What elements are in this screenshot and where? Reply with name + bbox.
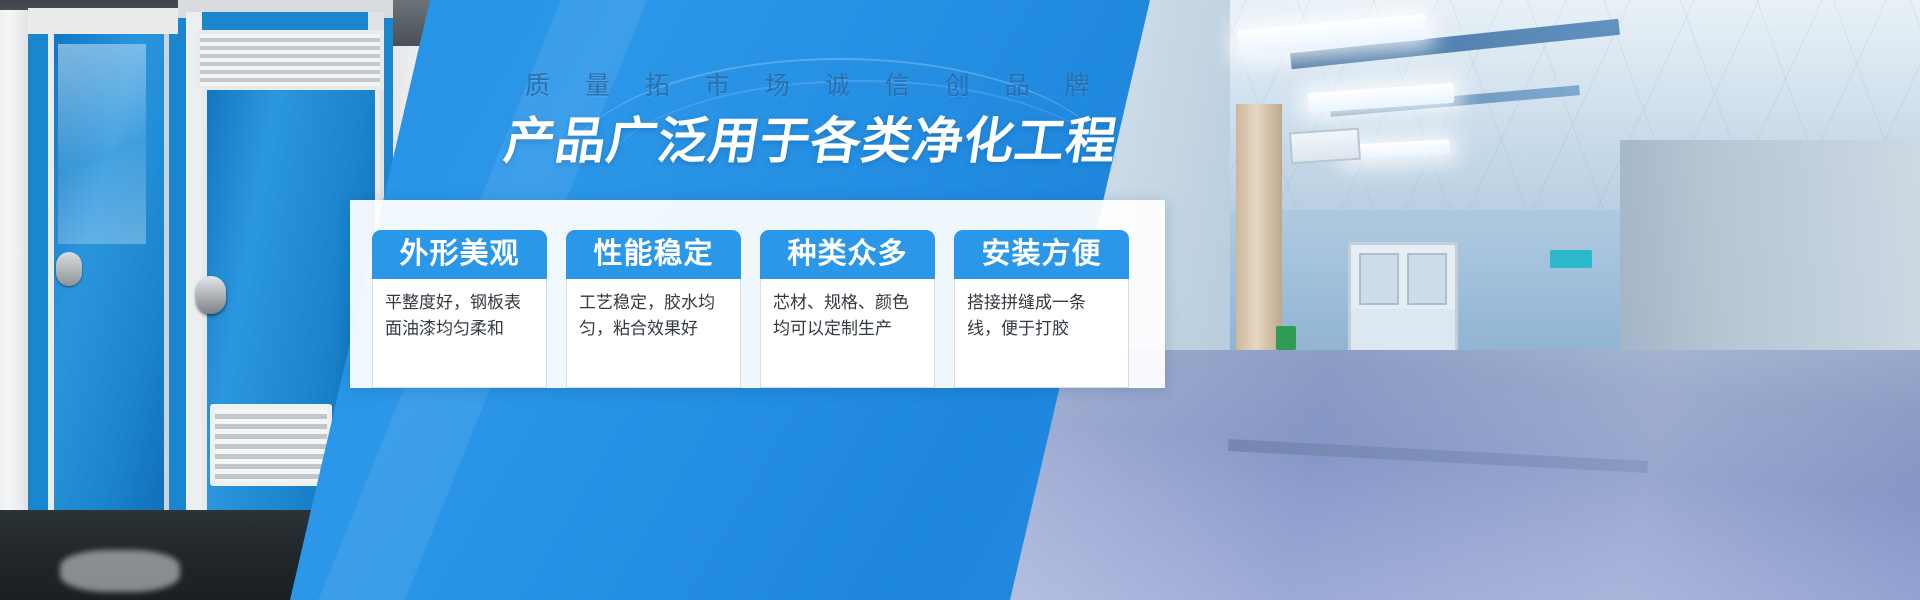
banner-subtitle: 质 量 拓 市 场 诚 信 创 品 牌 — [525, 74, 1085, 99]
feature-card-1-title: 外形美观 — [372, 230, 547, 279]
promo-banner: 质 量 拓 市 场 诚 信 创 品 牌 产品广泛用于各类净化工程 外形美观 平整… — [0, 0, 1920, 600]
feature-cards-row: 外形美观 平整度好，钢板表面油漆均匀柔和 性能稳定 工艺稳定，胶水均匀，粘合效果… — [350, 200, 1165, 388]
feature-card-2-title: 性能稳定 — [566, 230, 741, 279]
feature-card-3-title: 种类众多 — [760, 230, 935, 279]
banner-headline: 产品广泛用于各类净化工程 — [501, 114, 1230, 169]
feature-card-2-body: 工艺稳定，胶水均匀，粘合效果好 — [566, 279, 741, 388]
feature-card-2[interactable]: 性能稳定 工艺稳定，胶水均匀，粘合效果好 — [566, 230, 741, 388]
feature-card-4-body: 搭接拼缝成一条线，便于打胶 — [954, 279, 1129, 388]
feature-card-4-title: 安装方便 — [954, 230, 1129, 279]
feature-card-1[interactable]: 外形美观 平整度好，钢板表面油漆均匀柔和 — [372, 230, 547, 388]
feature-card-3[interactable]: 种类众多 芯材、规格、颜色均可以定制生产 — [760, 230, 935, 388]
feature-card-3-body: 芯材、规格、颜色均可以定制生产 — [760, 279, 935, 388]
feature-card-4[interactable]: 安装方便 搭接拼缝成一条线，便于打胶 — [954, 230, 1129, 388]
feature-card-1-body: 平整度好，钢板表面油漆均匀柔和 — [372, 279, 547, 388]
feature-cards-panel: 外形美观 平整度好，钢板表面油漆均匀柔和 性能稳定 工艺稳定，胶水均匀，粘合效果… — [350, 200, 1165, 388]
